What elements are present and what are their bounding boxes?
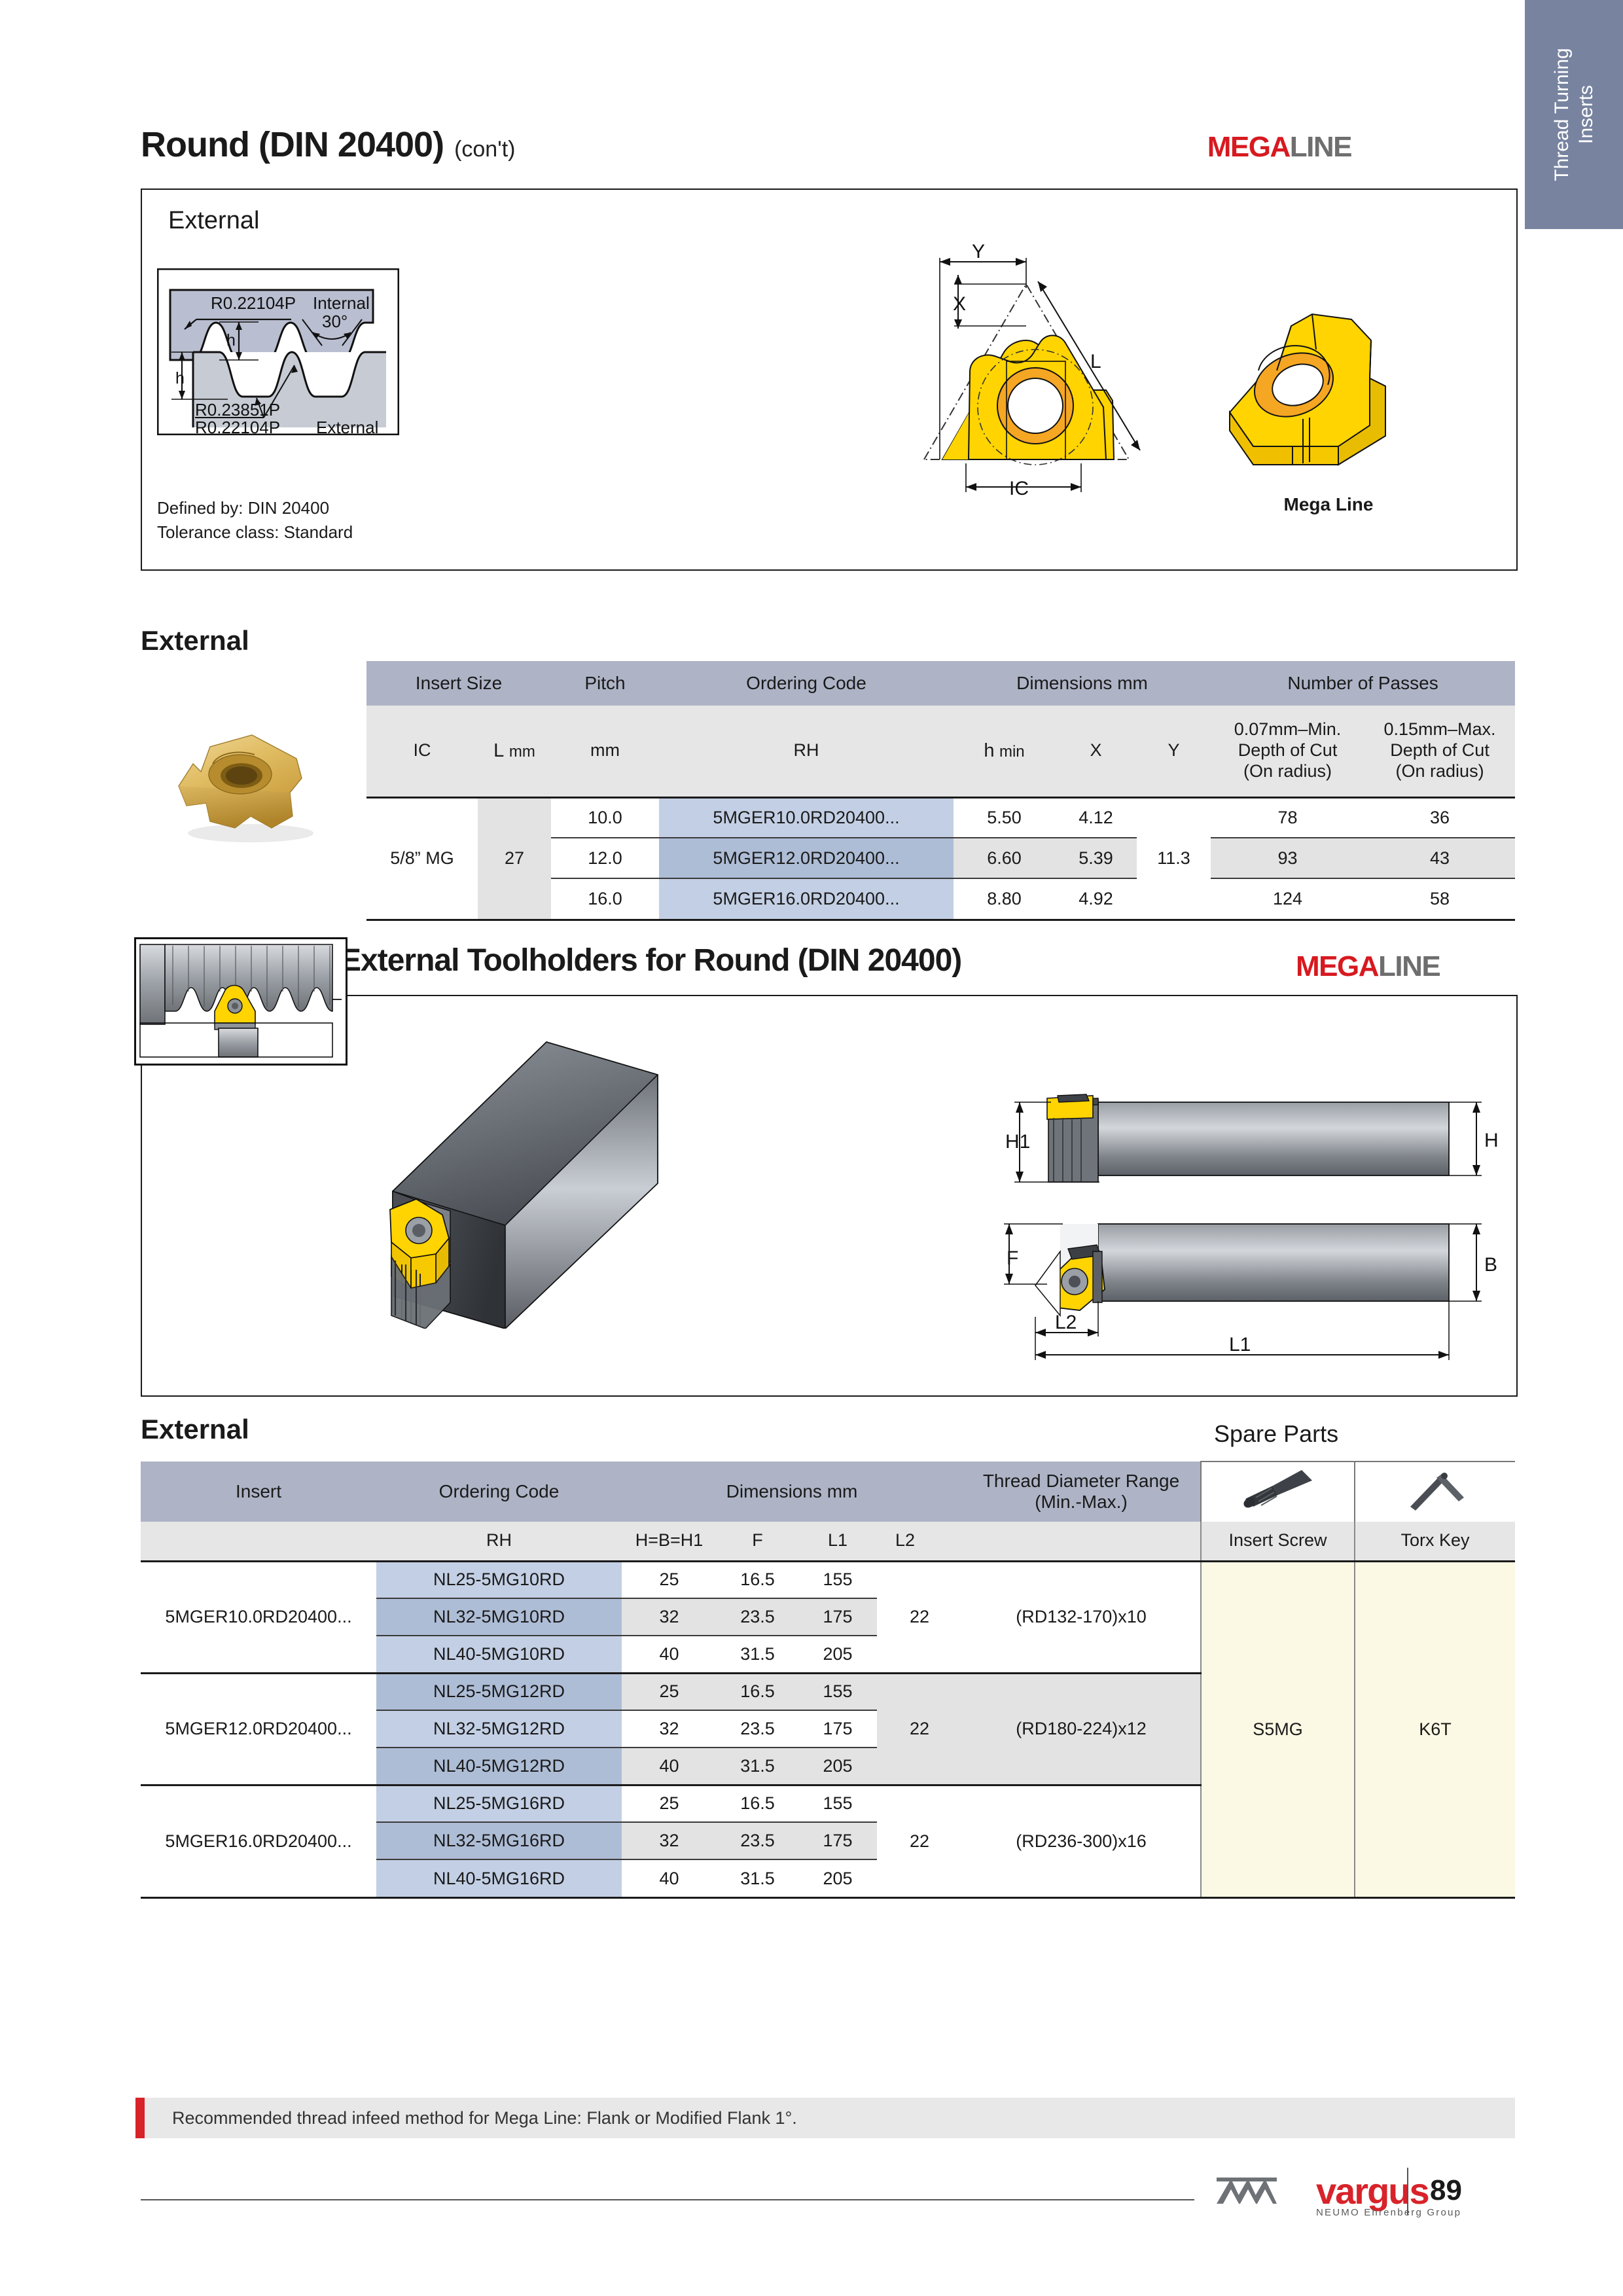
svg-text:R0.22104P: R0.22104P: [195, 418, 280, 435]
th-insert: Insert: [141, 1462, 376, 1522]
th-pitch: Pitch: [551, 661, 659, 706]
cell-f: 16.5: [717, 1673, 798, 1710]
cell-h-min: 6.60: [954, 838, 1055, 878]
th-insert-screw-icon-cell: [1201, 1462, 1355, 1522]
megaline-logo-a: A: [1270, 131, 1289, 163]
mega-line-caption: Mega Line: [1230, 494, 1427, 515]
cell-insert-code: 5MGER12.0RD20400...: [141, 1673, 376, 1785]
cell-insert-code: 5MGER10.0RD20400...: [141, 1561, 376, 1673]
side-tab-label: Thread Turning Inserts: [1525, 0, 1623, 229]
cell-x: 4.92: [1055, 878, 1137, 919]
table2-header-group-row: Insert Ordering Code Dimensions mm Threa…: [141, 1462, 1515, 1522]
footer-note: Recommended thread infeed method for Meg…: [141, 2098, 1515, 2138]
th-l-unit: mm: [509, 743, 535, 761]
megaline-logo-line-2: LINE: [1378, 950, 1440, 982]
svg-text:H1: H1: [1005, 1131, 1030, 1153]
th-l-mm: L mm: [478, 706, 551, 797]
external-toolholders-table: Insert Ordering Code Dimensions mm Threa…: [141, 1461, 1515, 1899]
th-passes-min-l2: Depth of Cut: [1211, 740, 1364, 761]
cell-thread-range: (RD180-224)x12: [962, 1673, 1201, 1785]
svg-text:Y: Y: [972, 243, 985, 262]
cell-f: 31.5: [717, 1859, 798, 1897]
svg-text:R0.22104P: R0.22104P: [211, 293, 296, 313]
cell-l1: 175: [798, 1710, 877, 1748]
cell-passes-min: 93: [1211, 838, 1364, 878]
cell-h-b-h1: 25: [622, 1561, 717, 1598]
cell-pitch: 10.0: [551, 797, 659, 838]
th-l1: L1: [798, 1522, 877, 1561]
th-x: X: [1055, 706, 1137, 797]
th-h-unit: min: [999, 743, 1025, 761]
vargus-tagline: NEUMO Ehrenberg Group: [1316, 2207, 1461, 2218]
svg-text:F: F: [1007, 1247, 1018, 1269]
defined-by-text: Defined by: DIN 20400: [157, 496, 353, 520]
thread-cross-section-diagram: [134, 937, 348, 1066]
svg-text:X: X: [953, 293, 966, 315]
cell-ordering-code-2: NL25-5MG16RD: [376, 1785, 622, 1822]
cell-l2: 22: [877, 1785, 962, 1897]
th-passes-min-l3: (On radius): [1211, 761, 1364, 782]
spare-parts-title: Spare Parts: [1214, 1420, 1338, 1448]
th-insert-screw-label: Insert Screw: [1201, 1522, 1355, 1561]
th-passes-max: 0.15mm–Max. Depth of Cut (On radius): [1364, 706, 1515, 797]
cell-y: 11.3: [1137, 797, 1211, 919]
svg-text:B: B: [1484, 1254, 1497, 1276]
th-dimensions-mm: Dimensions mm: [954, 661, 1211, 706]
th-y: Y: [1137, 706, 1211, 797]
cell-insert-code: 5MGER16.0RD20400...: [141, 1785, 376, 1897]
side-tab-line2: Inserts: [1574, 85, 1599, 144]
cell-thread-range: (RD236-300)x16: [962, 1785, 1201, 1897]
th-torx-key-icon-cell: [1355, 1462, 1515, 1522]
page-title-suffix: (con't): [454, 137, 515, 162]
cell-h-b-h1: 32: [622, 1598, 717, 1636]
cell-l1: 175: [798, 1598, 877, 1636]
th-passes-max-l1: 0.15mm–Max.: [1364, 719, 1515, 740]
side-tab-line1: Thread Turning: [1550, 48, 1575, 181]
th-ordering-code-2: Ordering Code: [376, 1462, 622, 1522]
svg-text:H: H: [1484, 1130, 1499, 1151]
cell-passes-max: 36: [1364, 797, 1515, 838]
th-passes-min-l1: 0.07mm–Min.: [1211, 719, 1364, 740]
footer-note-accent-bar: [135, 2098, 145, 2138]
insert-screw-icon: [1239, 1466, 1317, 1513]
table1-header-sub-row: IC L mm mm RH h min X Y 0.07mm–Min. Dept…: [366, 706, 1515, 797]
th-insert-size: Insert Size: [366, 661, 551, 706]
toolholder-section-title: External Toolholders for Round (DIN 2040…: [340, 942, 961, 978]
cell-f: 23.5: [717, 1822, 798, 1859]
cell-passes-min: 78: [1211, 797, 1364, 838]
external-inserts-table: Insert Size Pitch Ordering Code Dimensio…: [366, 661, 1515, 921]
cell-f: 31.5: [717, 1636, 798, 1673]
cell-passes-min: 124: [1211, 878, 1364, 919]
th-thread-diameter-range: Thread Diameter Range (Min.-Max.): [962, 1462, 1201, 1522]
vargus-wordmark: vargus: [1316, 2170, 1429, 2212]
defined-by-block: Defined by: DIN 20400 Tolerance class: S…: [157, 496, 353, 545]
cell-h-min: 8.80: [954, 878, 1055, 919]
cell-torx-key: K6T: [1355, 1561, 1515, 1897]
th-torx-key-label: Torx Key: [1355, 1522, 1515, 1561]
th-l2: L2: [877, 1522, 962, 1561]
th-l-letter: L: [493, 740, 504, 761]
cell-x: 5.39: [1055, 838, 1137, 878]
svg-text:L1: L1: [1229, 1334, 1251, 1355]
cell-insert-size-l: 27: [478, 797, 551, 919]
cell-pitch: 16.0: [551, 878, 659, 919]
cell-passes-max: 43: [1364, 838, 1515, 878]
catalog-page: Thread Turning Inserts Round (DIN 20400)…: [0, 0, 1623, 2296]
cell-ordering-code: 5MGER16.0RD20400...: [659, 878, 954, 919]
toolholder-3d-drawing: [353, 1021, 825, 1332]
svg-text:Internal: Internal: [313, 293, 370, 313]
cell-l1: 205: [798, 1859, 877, 1897]
insert-dimension-drawing: Y X L IC: [910, 243, 1230, 522]
section-label-external-toolholders: External: [141, 1414, 249, 1445]
svg-text:R0.23851P: R0.23851P: [195, 400, 280, 420]
table-row: 5/8” MG 27 10.0 5MGER10.0RD20400... 5.50…: [366, 797, 1515, 838]
section-label-external-inserts: External: [141, 625, 249, 656]
cell-f: 31.5: [717, 1748, 798, 1785]
th-pitch-mm: mm: [551, 706, 659, 797]
cell-h-min: 5.50: [954, 797, 1055, 838]
table-row: 5MGER10.0RD20400... NL25-5MG10RD 25 16.5…: [141, 1561, 1515, 1598]
cell-l1: 205: [798, 1748, 877, 1785]
megaline-logo-a-2: A: [1359, 950, 1378, 982]
cell-ordering-code-2: NL40-5MG16RD: [376, 1859, 622, 1897]
side-tab-thread-turning-inserts: Thread Turning Inserts: [1525, 0, 1623, 229]
vargus-logo: vargus NEUMO Ehrenberg Group: [1214, 2170, 1461, 2218]
cell-ordering-code-2: NL25-5MG10RD: [376, 1561, 622, 1598]
cell-h-b-h1: 40: [622, 1636, 717, 1673]
torx-key-icon: [1396, 1466, 1474, 1513]
megaline-logo-mega-2: MEG: [1296, 950, 1359, 982]
th-passes-min: 0.07mm–Min. Depth of Cut (On radius): [1211, 706, 1364, 797]
cell-l2: 22: [877, 1673, 962, 1785]
th-thread-dia-l2: (Min.-Max.): [962, 1492, 1200, 1513]
th-rh-2: RH: [376, 1522, 622, 1561]
table1-header-group-row: Insert Size Pitch Ordering Code Dimensio…: [366, 661, 1515, 706]
cell-ordering-code-2: NL32-5MG16RD: [376, 1822, 622, 1859]
page-header: Round (DIN 20400) (con't) MEGALINE: [141, 124, 1351, 165]
svg-text:L: L: [1090, 351, 1101, 372]
toolholder-dimension-views: H1 H F: [995, 1067, 1505, 1371]
svg-text:IC: IC: [1009, 478, 1029, 499]
cell-l1: 155: [798, 1673, 877, 1710]
vargus-mountain-icon: [1214, 2171, 1312, 2213]
cell-h-b-h1: 25: [622, 1673, 717, 1710]
th-thread-dia-l1: Thread Diameter Range: [962, 1471, 1200, 1492]
page-number: 89: [1430, 2174, 1462, 2207]
megaline-logo-toolholder: MEGALINE: [1296, 950, 1440, 983]
table2-header-sub-row: RH H=B=H1 F L1 L2 Insert Screw Torx Key: [141, 1522, 1515, 1561]
th-h-min: h min: [954, 706, 1055, 797]
footer-rule: [141, 2199, 1194, 2200]
megaline-logo-mega: MEG: [1207, 131, 1270, 163]
cell-f: 16.5: [717, 1561, 798, 1598]
page-title: Round (DIN 20400): [141, 124, 444, 165]
megaline-logo-line: LINE: [1290, 131, 1351, 163]
th-blank-insert: [141, 1522, 376, 1561]
mega-line-insert-3d: [1214, 308, 1430, 488]
panel-title-external: External: [168, 207, 259, 235]
cell-pitch: 12.0: [551, 838, 659, 878]
cell-l1: 175: [798, 1822, 877, 1859]
cell-f: 16.5: [717, 1785, 798, 1822]
th-dimensions-mm-2: Dimensions mm: [622, 1462, 962, 1522]
cell-ordering-code: 5MGER12.0RD20400...: [659, 838, 954, 878]
cell-h-b-h1: 32: [622, 1822, 717, 1859]
thread-profile-diagram: h h R0.22104P Internal 30° R0.23851P: [157, 268, 399, 435]
cell-passes-max: 58: [1364, 878, 1515, 919]
cell-f: 23.5: [717, 1598, 798, 1636]
cell-f: 23.5: [717, 1710, 798, 1748]
cell-insert-screw: S5MG: [1201, 1561, 1355, 1897]
cell-l2: 22: [877, 1561, 962, 1673]
footer-note-text: Recommended thread infeed method for Meg…: [172, 2108, 797, 2128]
cell-l1: 155: [798, 1561, 877, 1598]
svg-text:30°: 30°: [322, 312, 348, 331]
th-ordering-code: Ordering Code: [659, 661, 954, 706]
cell-ordering-code-2: NL32-5MG10RD: [376, 1598, 622, 1636]
cell-ordering-code-2: NL32-5MG12RD: [376, 1710, 622, 1748]
th-ic: IC: [366, 706, 478, 797]
megaline-logo: MEGALINE: [1207, 131, 1351, 164]
th-f: F: [717, 1522, 798, 1561]
cell-ordering-code-2: NL25-5MG12RD: [376, 1673, 622, 1710]
th-blank-range: [962, 1522, 1201, 1561]
th-passes-max-l3: (On radius): [1364, 761, 1515, 782]
cell-insert-size-ic: 5/8” MG: [366, 797, 478, 919]
cell-ordering-code: 5MGER10.0RD20400...: [659, 797, 954, 838]
cell-h-b-h1: 40: [622, 1748, 717, 1785]
cell-l1: 205: [798, 1636, 877, 1673]
th-rh: RH: [659, 706, 954, 797]
svg-text:External: External: [316, 418, 378, 435]
th-passes-max-l2: Depth of Cut: [1364, 740, 1515, 761]
tolerance-class-text: Tolerance class: Standard: [157, 520, 353, 545]
page-number-divider: [1407, 2168, 1408, 2215]
cell-l1: 155: [798, 1785, 877, 1822]
cell-ordering-code-2: NL40-5MG12RD: [376, 1748, 622, 1785]
cell-thread-range: (RD132-170)x10: [962, 1561, 1201, 1673]
svg-text:h: h: [175, 369, 185, 387]
cell-h-b-h1: 25: [622, 1785, 717, 1822]
cell-h-b-h1: 32: [622, 1710, 717, 1748]
svg-text:L2: L2: [1055, 1312, 1077, 1333]
insert-photo-thumbnail: [167, 723, 330, 851]
th-h-b-h1: H=B=H1: [622, 1522, 717, 1561]
th-h-letter: h: [984, 740, 994, 761]
cell-h-b-h1: 40: [622, 1859, 717, 1897]
svg-text:h: h: [226, 331, 236, 350]
cell-x: 4.12: [1055, 797, 1137, 838]
th-number-of-passes: Number of Passes: [1211, 661, 1515, 706]
cell-ordering-code-2: NL40-5MG10RD: [376, 1636, 622, 1673]
